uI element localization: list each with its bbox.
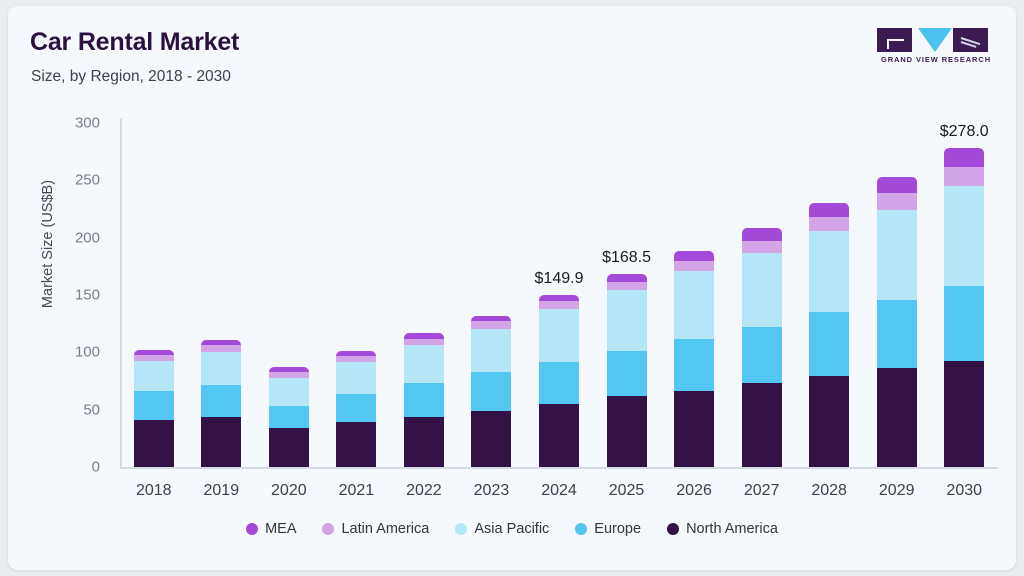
x-axis-tick: 2022 <box>390 482 458 500</box>
bar-segment[interactable] <box>809 312 849 376</box>
bar-segment[interactable] <box>877 300 917 369</box>
bar-group[interactable] <box>944 148 984 467</box>
bar-segment[interactable] <box>607 290 647 350</box>
legend-label: Asia Pacific <box>474 521 549 537</box>
legend-item-north-america[interactable]: North America <box>667 521 778 537</box>
bar-segment[interactable] <box>877 193 917 210</box>
bar-segment[interactable] <box>944 286 984 362</box>
bar-segment[interactable] <box>944 167 984 186</box>
bar-segment[interactable] <box>877 177 917 193</box>
bar-group[interactable] <box>404 333 444 467</box>
bar-segment[interactable] <box>471 411 511 467</box>
bar-segment[interactable] <box>134 420 174 467</box>
bar-segment[interactable] <box>674 339 714 391</box>
bar-group[interactable] <box>877 177 917 467</box>
x-axis-tick: 2024 <box>525 482 593 500</box>
x-axis-tick: 2023 <box>458 482 526 500</box>
bar-segment[interactable] <box>404 345 444 382</box>
bar-group[interactable] <box>201 340 241 467</box>
bar-segment[interactable] <box>336 394 376 422</box>
legend-swatch-icon <box>246 523 258 535</box>
y-axis-tick: 50 <box>40 401 100 418</box>
legend-swatch-icon <box>322 523 334 535</box>
bar-segment[interactable] <box>134 391 174 420</box>
bar-segment[interactable] <box>134 361 174 391</box>
bar-segment[interactable] <box>539 301 579 309</box>
bar-group[interactable] <box>809 203 849 467</box>
bar-segment[interactable] <box>877 210 917 300</box>
bar-segment[interactable] <box>269 378 309 406</box>
bar-segment[interactable] <box>201 385 241 417</box>
bar-group[interactable] <box>336 351 376 467</box>
bar-segment[interactable] <box>539 404 579 467</box>
bar-segment[interactable] <box>201 417 241 467</box>
x-axis-tick: 2018 <box>120 482 188 500</box>
bar-segment[interactable] <box>607 351 647 397</box>
x-axis-tick: 2021 <box>323 482 391 500</box>
bar-segment[interactable] <box>471 372 511 410</box>
bar-value-label: $168.5 <box>572 249 682 267</box>
legend-swatch-icon <box>455 523 467 535</box>
bar-segment[interactable] <box>404 339 444 346</box>
bar-segment[interactable] <box>742 241 782 253</box>
legend-item-mea[interactable]: MEA <box>246 521 296 537</box>
y-axis-tick: 250 <box>40 172 100 189</box>
y-axis-tick: 0 <box>40 459 100 476</box>
bar-group[interactable] <box>607 274 647 467</box>
legend-label: North America <box>686 521 778 537</box>
bar-segment[interactable] <box>742 253 782 326</box>
legend-item-asia-pacific[interactable]: Asia Pacific <box>455 521 549 537</box>
bar-segment[interactable] <box>742 228 782 241</box>
bar-group[interactable] <box>539 295 579 467</box>
y-axis-tick: 300 <box>40 115 100 132</box>
bar-segment[interactable] <box>674 391 714 467</box>
chart-plot-area: Market Size (US$B) 050100150200250300 20… <box>8 6 1016 570</box>
bar-segment[interactable] <box>471 329 511 373</box>
bar-segment[interactable] <box>336 422 376 467</box>
x-axis-line <box>120 467 998 469</box>
x-axis-tick: 2029 <box>863 482 931 500</box>
bar-segment[interactable] <box>201 345 241 352</box>
bar-segment[interactable] <box>809 231 849 312</box>
legend-item-latin-america[interactable]: Latin America <box>322 521 429 537</box>
x-axis-tick: 2028 <box>795 482 863 500</box>
legend-swatch-icon <box>575 523 587 535</box>
bar-value-label: $149.9 <box>504 270 614 288</box>
bar-segment[interactable] <box>674 271 714 339</box>
bar-segment[interactable] <box>944 186 984 286</box>
bar-group[interactable] <box>471 316 511 467</box>
x-axis-tick: 2020 <box>255 482 323 500</box>
bar-segment[interactable] <box>269 406 309 428</box>
x-axis-tick: 2019 <box>188 482 256 500</box>
x-axis-tick: 2027 <box>728 482 796 500</box>
legend-item-europe[interactable]: Europe <box>575 521 641 537</box>
legend-label: Latin America <box>341 521 429 537</box>
bar-segment[interactable] <box>404 383 444 417</box>
y-axis-line <box>120 118 122 468</box>
y-axis-tick: 100 <box>40 344 100 361</box>
x-axis-tick: 2030 <box>930 482 998 500</box>
bar-group[interactable] <box>134 350 174 467</box>
y-axis-ticks: 050100150200250300 <box>30 6 100 570</box>
bar-segment[interactable] <box>877 368 917 467</box>
bar-segment[interactable] <box>944 148 984 166</box>
legend-swatch-icon <box>667 523 679 535</box>
bar-segment[interactable] <box>539 362 579 404</box>
bar-segment[interactable] <box>269 428 309 467</box>
chart-legend: MEALatin AmericaAsia PacificEuropeNorth … <box>8 521 1016 537</box>
bar-segment[interactable] <box>607 396 647 467</box>
x-axis-tick: 2026 <box>660 482 728 500</box>
bar-segment[interactable] <box>809 376 849 467</box>
bar-segment[interactable] <box>944 361 984 466</box>
bar-value-label: $278.0 <box>909 123 1016 141</box>
x-axis-tick: 2025 <box>593 482 661 500</box>
bar-segment[interactable] <box>539 309 579 362</box>
y-axis-tick: 200 <box>40 229 100 246</box>
chart-card: Car Rental Market Size, by Region, 2018 … <box>8 6 1016 570</box>
legend-label: MEA <box>265 521 296 537</box>
y-axis-tick: 150 <box>40 287 100 304</box>
bar-segment[interactable] <box>809 203 849 217</box>
bar-segment[interactable] <box>809 217 849 231</box>
bar-group[interactable] <box>269 367 309 467</box>
bar-segment[interactable] <box>471 321 511 328</box>
bar-segment[interactable] <box>201 352 241 385</box>
bar-segment[interactable] <box>404 417 444 467</box>
bar-group[interactable] <box>674 251 714 467</box>
bar-group[interactable] <box>742 228 782 467</box>
bar-segment[interactable] <box>742 383 782 467</box>
legend-label: Europe <box>594 521 641 537</box>
bar-segment[interactable] <box>742 327 782 383</box>
bar-segment[interactable] <box>336 362 376 394</box>
